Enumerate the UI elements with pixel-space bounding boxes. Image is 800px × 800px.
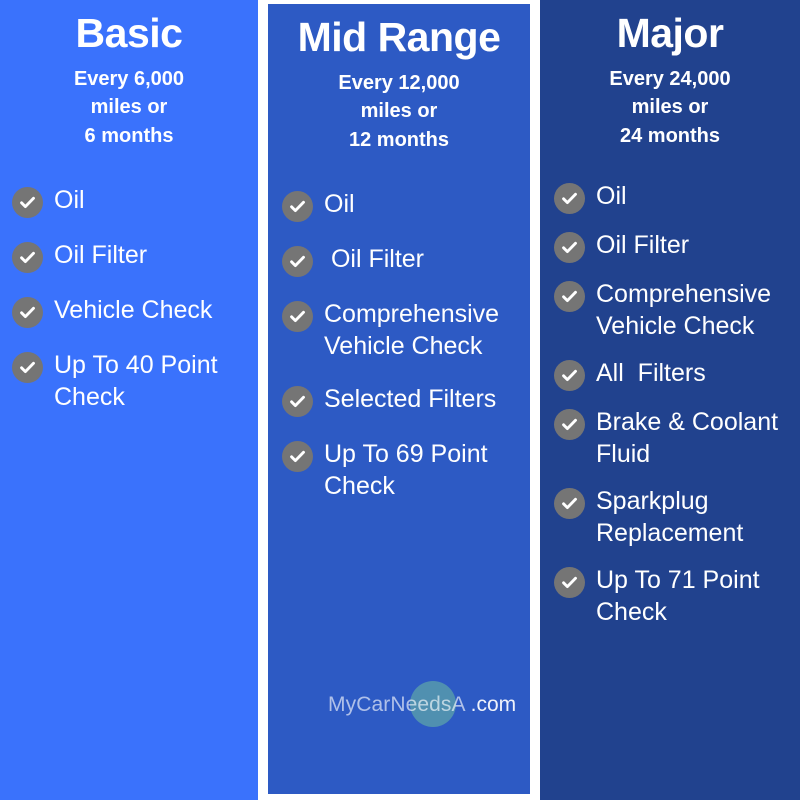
list-item: Comprehensive Vehicle Check: [554, 278, 794, 342]
plan-subtitle-line: miles or: [8, 93, 250, 121]
plan-header-mid-range: Mid Range Every 12,000 miles or 12 month…: [268, 4, 530, 154]
plan-column-mid-range: Mid Range Every 12,000 miles or 12 month…: [268, 4, 530, 794]
plan-subtitle-line: Every 24,000: [548, 65, 792, 93]
plan-column-major: Major Every 24,000 miles or 24 months Oi…: [540, 0, 800, 800]
list-item: Oil: [12, 184, 252, 218]
check-icon: [12, 352, 43, 383]
feature-label: Oil: [596, 180, 794, 212]
check-icon: [554, 281, 585, 312]
feature-list-basic: Oil Oil Filter Vehicle Check Up To 40 Po…: [0, 184, 258, 413]
plan-title: Basic: [0, 12, 258, 55]
watermark-tld: .com: [471, 693, 517, 717]
plan-subtitle-line: 24 months: [548, 122, 792, 150]
check-icon: [554, 232, 585, 263]
list-item: Sparkplug Replacement: [554, 485, 794, 549]
feature-label: Oil: [54, 184, 252, 216]
list-item: Brake & Coolant Fluid: [554, 406, 794, 470]
feature-list-mid-range: Oil Oil Filter Comprehensive Vehicle Che…: [268, 188, 530, 502]
feature-label: Up To 71 Point Check: [596, 564, 794, 628]
plan-subtitle-line: Every 6,000: [8, 65, 250, 93]
check-icon: [12, 187, 43, 218]
check-icon: [282, 441, 313, 472]
list-item: All Filters: [554, 357, 794, 391]
plan-subtitle-line: miles or: [548, 93, 792, 121]
feature-label: Selected Filters: [324, 383, 524, 415]
check-icon: [282, 246, 313, 277]
watermark-brand: MyCarNeedsA: [328, 693, 466, 717]
list-item: Oil: [282, 188, 524, 222]
list-item: Comprehensive Vehicle Check: [282, 298, 524, 362]
list-item: Up To 69 Point Check: [282, 438, 524, 502]
list-item: Oil: [554, 180, 794, 214]
feature-label: Oil: [324, 188, 524, 220]
list-item: Up To 71 Point Check: [554, 564, 794, 628]
feature-label: Brake & Coolant Fluid: [596, 406, 794, 470]
feature-label: Up To 69 Point Check: [324, 438, 524, 502]
plan-subtitle-line: 12 months: [276, 126, 522, 154]
check-icon: [12, 242, 43, 273]
plan-subtitle: Every 12,000 miles or 12 months: [268, 69, 530, 154]
feature-label: Oil Filter: [596, 229, 794, 261]
check-icon: [12, 297, 43, 328]
plan-subtitle-line: Every 12,000: [276, 69, 522, 97]
check-icon: [554, 488, 585, 519]
feature-label: All Filters: [596, 357, 794, 389]
check-icon: [282, 386, 313, 417]
list-item: Vehicle Check: [12, 294, 252, 328]
plan-subtitle-line: 6 months: [8, 122, 250, 150]
feature-label: Vehicle Check: [54, 294, 252, 326]
check-icon: [554, 360, 585, 391]
plan-title: Mid Range: [268, 16, 530, 59]
check-icon: [282, 301, 313, 332]
list-item: Up To 40 Point Check: [12, 349, 252, 413]
check-icon: [282, 191, 313, 222]
plan-column-basic: Basic Every 6,000 miles or 6 months Oil …: [0, 0, 258, 800]
brand-watermark: MyCarNeedsA .com: [328, 688, 516, 722]
plan-subtitle: Every 6,000 miles or 6 months: [0, 65, 258, 150]
feature-label: Oil Filter: [54, 239, 252, 271]
list-item: Selected Filters: [282, 383, 524, 417]
plan-header-major: Major Every 24,000 miles or 24 months: [540, 0, 800, 150]
list-item: Oil Filter: [12, 239, 252, 273]
plan-title: Major: [540, 12, 800, 55]
list-item: Oil Filter: [554, 229, 794, 263]
feature-label: Comprehensive Vehicle Check: [596, 278, 794, 342]
plan-header-basic: Basic Every 6,000 miles or 6 months: [0, 0, 258, 150]
feature-label: Comprehensive Vehicle Check: [324, 298, 524, 362]
check-icon: [554, 183, 585, 214]
check-icon: [554, 567, 585, 598]
feature-label: Sparkplug Replacement: [596, 485, 794, 549]
service-plan-comparison: Basic Every 6,000 miles or 6 months Oil …: [0, 0, 800, 800]
feature-list-major: Oil Oil Filter Comprehensive Vehicle Che…: [540, 180, 800, 628]
feature-label: Oil Filter: [324, 243, 524, 275]
plan-subtitle-line: miles or: [276, 97, 522, 125]
check-icon: [554, 409, 585, 440]
feature-label: Up To 40 Point Check: [54, 349, 252, 413]
list-item: Oil Filter: [282, 243, 524, 277]
plan-subtitle: Every 24,000 miles or 24 months: [540, 65, 800, 150]
